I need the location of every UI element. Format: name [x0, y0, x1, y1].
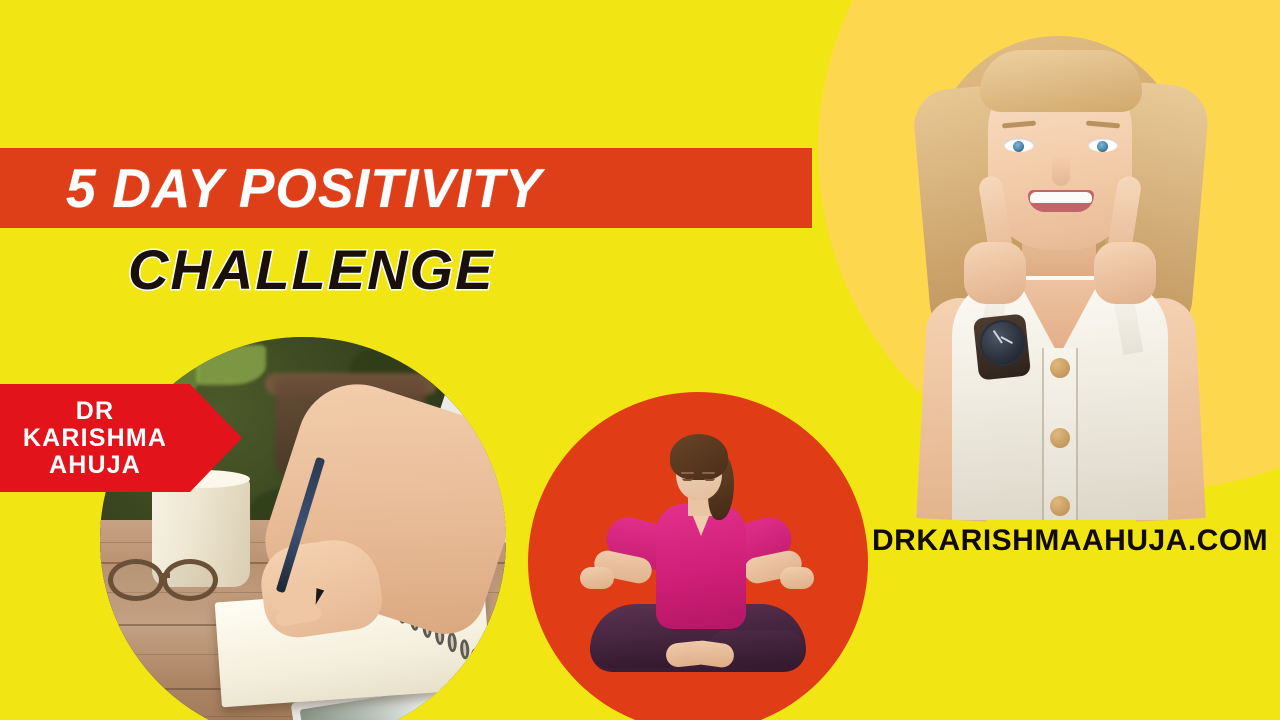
hand-right [780, 567, 814, 589]
host-nose [1052, 156, 1070, 186]
host-hand-left [964, 242, 1026, 304]
closed-eye-left [682, 478, 693, 481]
eyebrow-right [702, 472, 715, 474]
website-url: DRKARISHMAAHUJA.COM [872, 524, 1268, 558]
eyeglasses-lens-left [108, 559, 164, 601]
page-subtitle: CHALLENGE [128, 237, 494, 302]
host-smile [1028, 190, 1094, 212]
host-iris-right [1097, 141, 1108, 152]
meditating-woman [528, 392, 868, 720]
presenter-firstname-line: KARISHMA [23, 425, 167, 452]
host-fringe [980, 50, 1142, 112]
host-teeth [1030, 192, 1092, 203]
leaf-icon [196, 345, 266, 385]
hair [670, 434, 728, 480]
spiral-ring [460, 639, 470, 660]
host-button-2 [1050, 428, 1070, 448]
spiral-ring [470, 648, 480, 669]
host-iris-left [1013, 141, 1024, 152]
hand-left [580, 567, 614, 589]
host-hand-right [1094, 242, 1156, 304]
title-banner: 5 DAY POSITIVITY [0, 148, 812, 228]
presenter-lastname-line: AHUJA [49, 452, 141, 479]
host-button-1 [1050, 358, 1070, 378]
host-photo [880, 18, 1240, 520]
eyeglasses-lens-right [162, 559, 218, 601]
host-button-3 [1050, 496, 1070, 516]
presenter-title-line: DR [76, 398, 115, 425]
promo-graphic-canvas: 5 DAY POSITIVITY CHALLENGE [0, 0, 1280, 720]
closed-eye-right [704, 478, 715, 481]
spiral-ring [447, 632, 457, 653]
page-title: 5 DAY POSITIVITY [66, 156, 542, 220]
eyebrow-left [681, 472, 694, 474]
meditation-photo [528, 392, 868, 720]
eyeglasses-bridge [160, 573, 170, 578]
